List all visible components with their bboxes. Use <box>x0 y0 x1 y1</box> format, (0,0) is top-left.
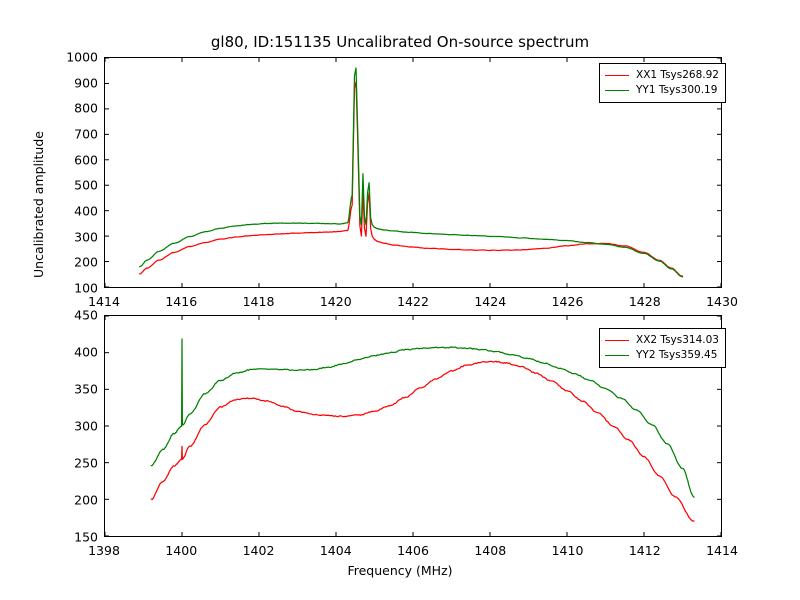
legend-label: XX1 Tsys268.92 <box>636 68 719 83</box>
y-tick-label: 300 <box>44 419 98 434</box>
series-line <box>140 82 683 276</box>
x-tick-label: 1406 <box>397 543 429 558</box>
x-tick-label: 1408 <box>474 543 506 558</box>
x-tick-label: 1404 <box>320 543 352 558</box>
y-tick-label: 100 <box>44 281 98 296</box>
y-tick-label: 600 <box>44 152 98 167</box>
y-tick-label: 300 <box>44 229 98 244</box>
x-tick-label: 1424 <box>474 294 506 309</box>
y-tick-label: 150 <box>44 530 98 545</box>
y-tick-label: 500 <box>44 178 98 193</box>
x-tick-label: 1414 <box>706 543 738 558</box>
x-tick-label: 1430 <box>706 294 738 309</box>
y-tick-label: 800 <box>44 101 98 116</box>
y-tick-label: 1000 <box>44 50 98 65</box>
legend-item: YY1 Tsys300.19 <box>605 83 719 98</box>
series-line <box>151 361 694 521</box>
figure-canvas: gl80, ID:151135 Uncalibrated On-source s… <box>0 0 800 600</box>
y-tick-label: 400 <box>44 204 98 219</box>
legend-item: XX1 Tsys268.92 <box>605 68 719 83</box>
y-tick-label: 900 <box>44 75 98 90</box>
y-tick-label: 250 <box>44 456 98 471</box>
x-tick-label: 1410 <box>552 543 584 558</box>
x-tick-label: 1428 <box>629 294 661 309</box>
legend-top: XX1 Tsys268.92 YY1 Tsys300.19 <box>599 63 726 103</box>
line-swatch-icon <box>605 355 629 356</box>
legend-item: YY2 Tsys359.45 <box>605 348 719 363</box>
legend-label: YY2 Tsys359.45 <box>636 348 717 363</box>
x-tick-label: 1420 <box>320 294 352 309</box>
x-tick-label: 1398 <box>88 543 120 558</box>
legend-item: XX2 Tsys314.03 <box>605 333 719 348</box>
line-swatch-icon <box>605 75 629 76</box>
legend-label: YY1 Tsys300.19 <box>636 83 717 98</box>
x-tick-label: 1402 <box>243 543 275 558</box>
y-tick-label: 450 <box>44 308 98 323</box>
x-tick-label: 1418 <box>243 294 275 309</box>
legend-bottom: XX2 Tsys314.03 YY2 Tsys359.45 <box>599 328 726 368</box>
legend-label: XX2 Tsys314.03 <box>636 333 719 348</box>
line-swatch-icon <box>605 340 629 341</box>
x-tick-label: 1422 <box>397 294 429 309</box>
y-tick-label: 200 <box>44 493 98 508</box>
x-tick-label: 1416 <box>165 294 197 309</box>
y-tick-label: 200 <box>44 255 98 270</box>
y-tick-label: 350 <box>44 382 98 397</box>
line-swatch-icon <box>605 90 629 91</box>
page-title: gl80, ID:151135 Uncalibrated On-source s… <box>0 33 800 51</box>
y-tick-label: 700 <box>44 127 98 142</box>
x-tick-label: 1426 <box>552 294 584 309</box>
y-tick-label: 400 <box>44 345 98 360</box>
x-tick-label: 1412 <box>629 543 661 558</box>
x-tick-label: 1400 <box>165 543 197 558</box>
x-axis-label: Frequency (MHz) <box>0 563 800 578</box>
